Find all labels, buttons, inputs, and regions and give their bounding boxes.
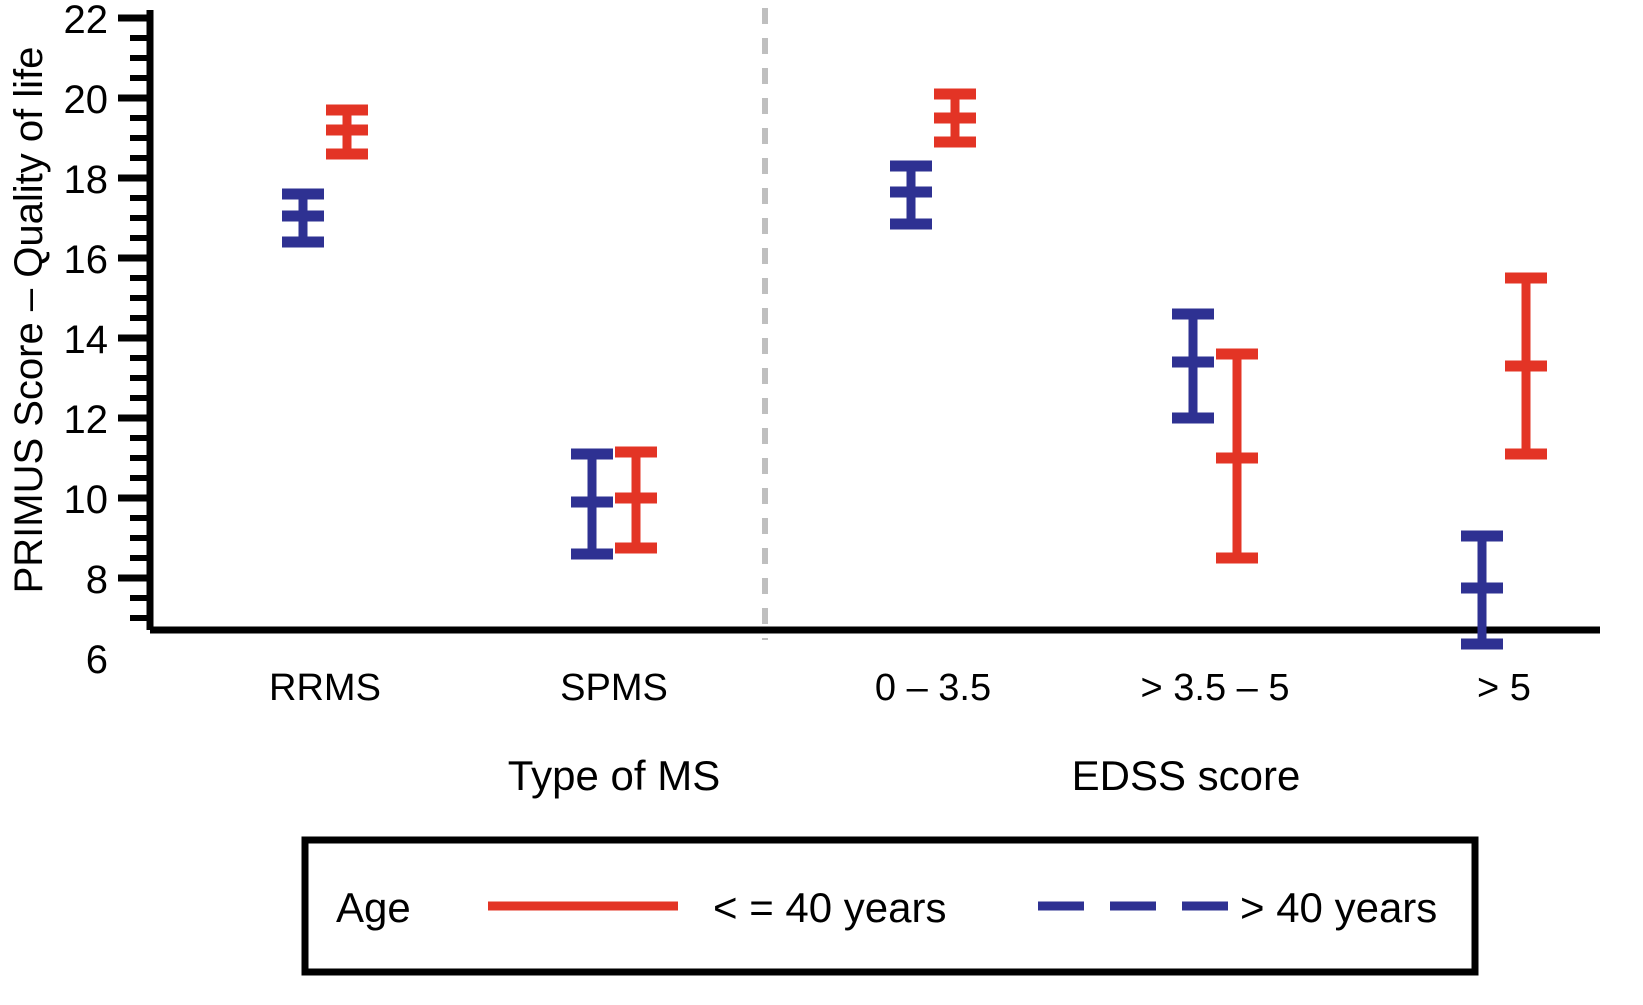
error-bar-group bbox=[282, 94, 1547, 644]
legend-label-under-40: < = 40 years bbox=[713, 884, 946, 931]
y-tick-label: 12 bbox=[64, 398, 109, 442]
y-tick-label: 8 bbox=[86, 558, 108, 602]
chart-figure: 2220181614121086 PRIMUS Score – Quality … bbox=[0, 0, 1643, 1005]
error-bar bbox=[890, 166, 932, 224]
x-axis-category-label: > 3.5 – 5 bbox=[1141, 667, 1290, 709]
x-axis-group-title: Type of MS bbox=[508, 752, 720, 799]
y-axis-title: PRIMUS Score – Quality of life bbox=[7, 47, 51, 594]
error-bar bbox=[326, 110, 368, 154]
error-bar bbox=[1216, 354, 1258, 558]
legend-title: Age bbox=[336, 884, 411, 931]
y-tick-label: 22 bbox=[64, 0, 109, 42]
y-tick-label: 18 bbox=[64, 158, 109, 202]
y-tick-label: 20 bbox=[64, 78, 109, 122]
primus-quality-of-life-chart: 2220181614121086 PRIMUS Score – Quality … bbox=[0, 0, 1643, 1005]
error-bar bbox=[1505, 278, 1547, 454]
x-axis-category-label: SPMS bbox=[560, 667, 668, 709]
x-axis-category-labels: RRMSSPMS0 – 3.5> 3.5 – 5> 5 bbox=[269, 667, 1531, 709]
x-axis-category-label: 0 – 3.5 bbox=[875, 667, 991, 709]
x-axis-category-label: > 5 bbox=[1477, 667, 1531, 709]
error-bar bbox=[282, 194, 324, 242]
y-tick-label: 10 bbox=[64, 478, 109, 522]
error-bar bbox=[571, 454, 613, 554]
y-tick-label: 16 bbox=[64, 238, 109, 282]
y-tick-label: 6 bbox=[86, 638, 108, 682]
x-axis-group-title: EDSS score bbox=[1072, 752, 1301, 799]
x-axis-category-label: RRMS bbox=[269, 667, 381, 709]
error-bar bbox=[934, 94, 976, 142]
y-tick-label: 14 bbox=[64, 318, 109, 362]
error-bar bbox=[1172, 314, 1214, 418]
y-axis-tick-labels: 2220181614121086 bbox=[64, 0, 109, 682]
legend-label-over-40: > 40 years bbox=[1240, 884, 1437, 931]
error-bar bbox=[615, 452, 657, 548]
y-axis-ticks bbox=[118, 18, 150, 618]
x-axis-group-labels: Type of MSEDSS score bbox=[508, 752, 1301, 799]
